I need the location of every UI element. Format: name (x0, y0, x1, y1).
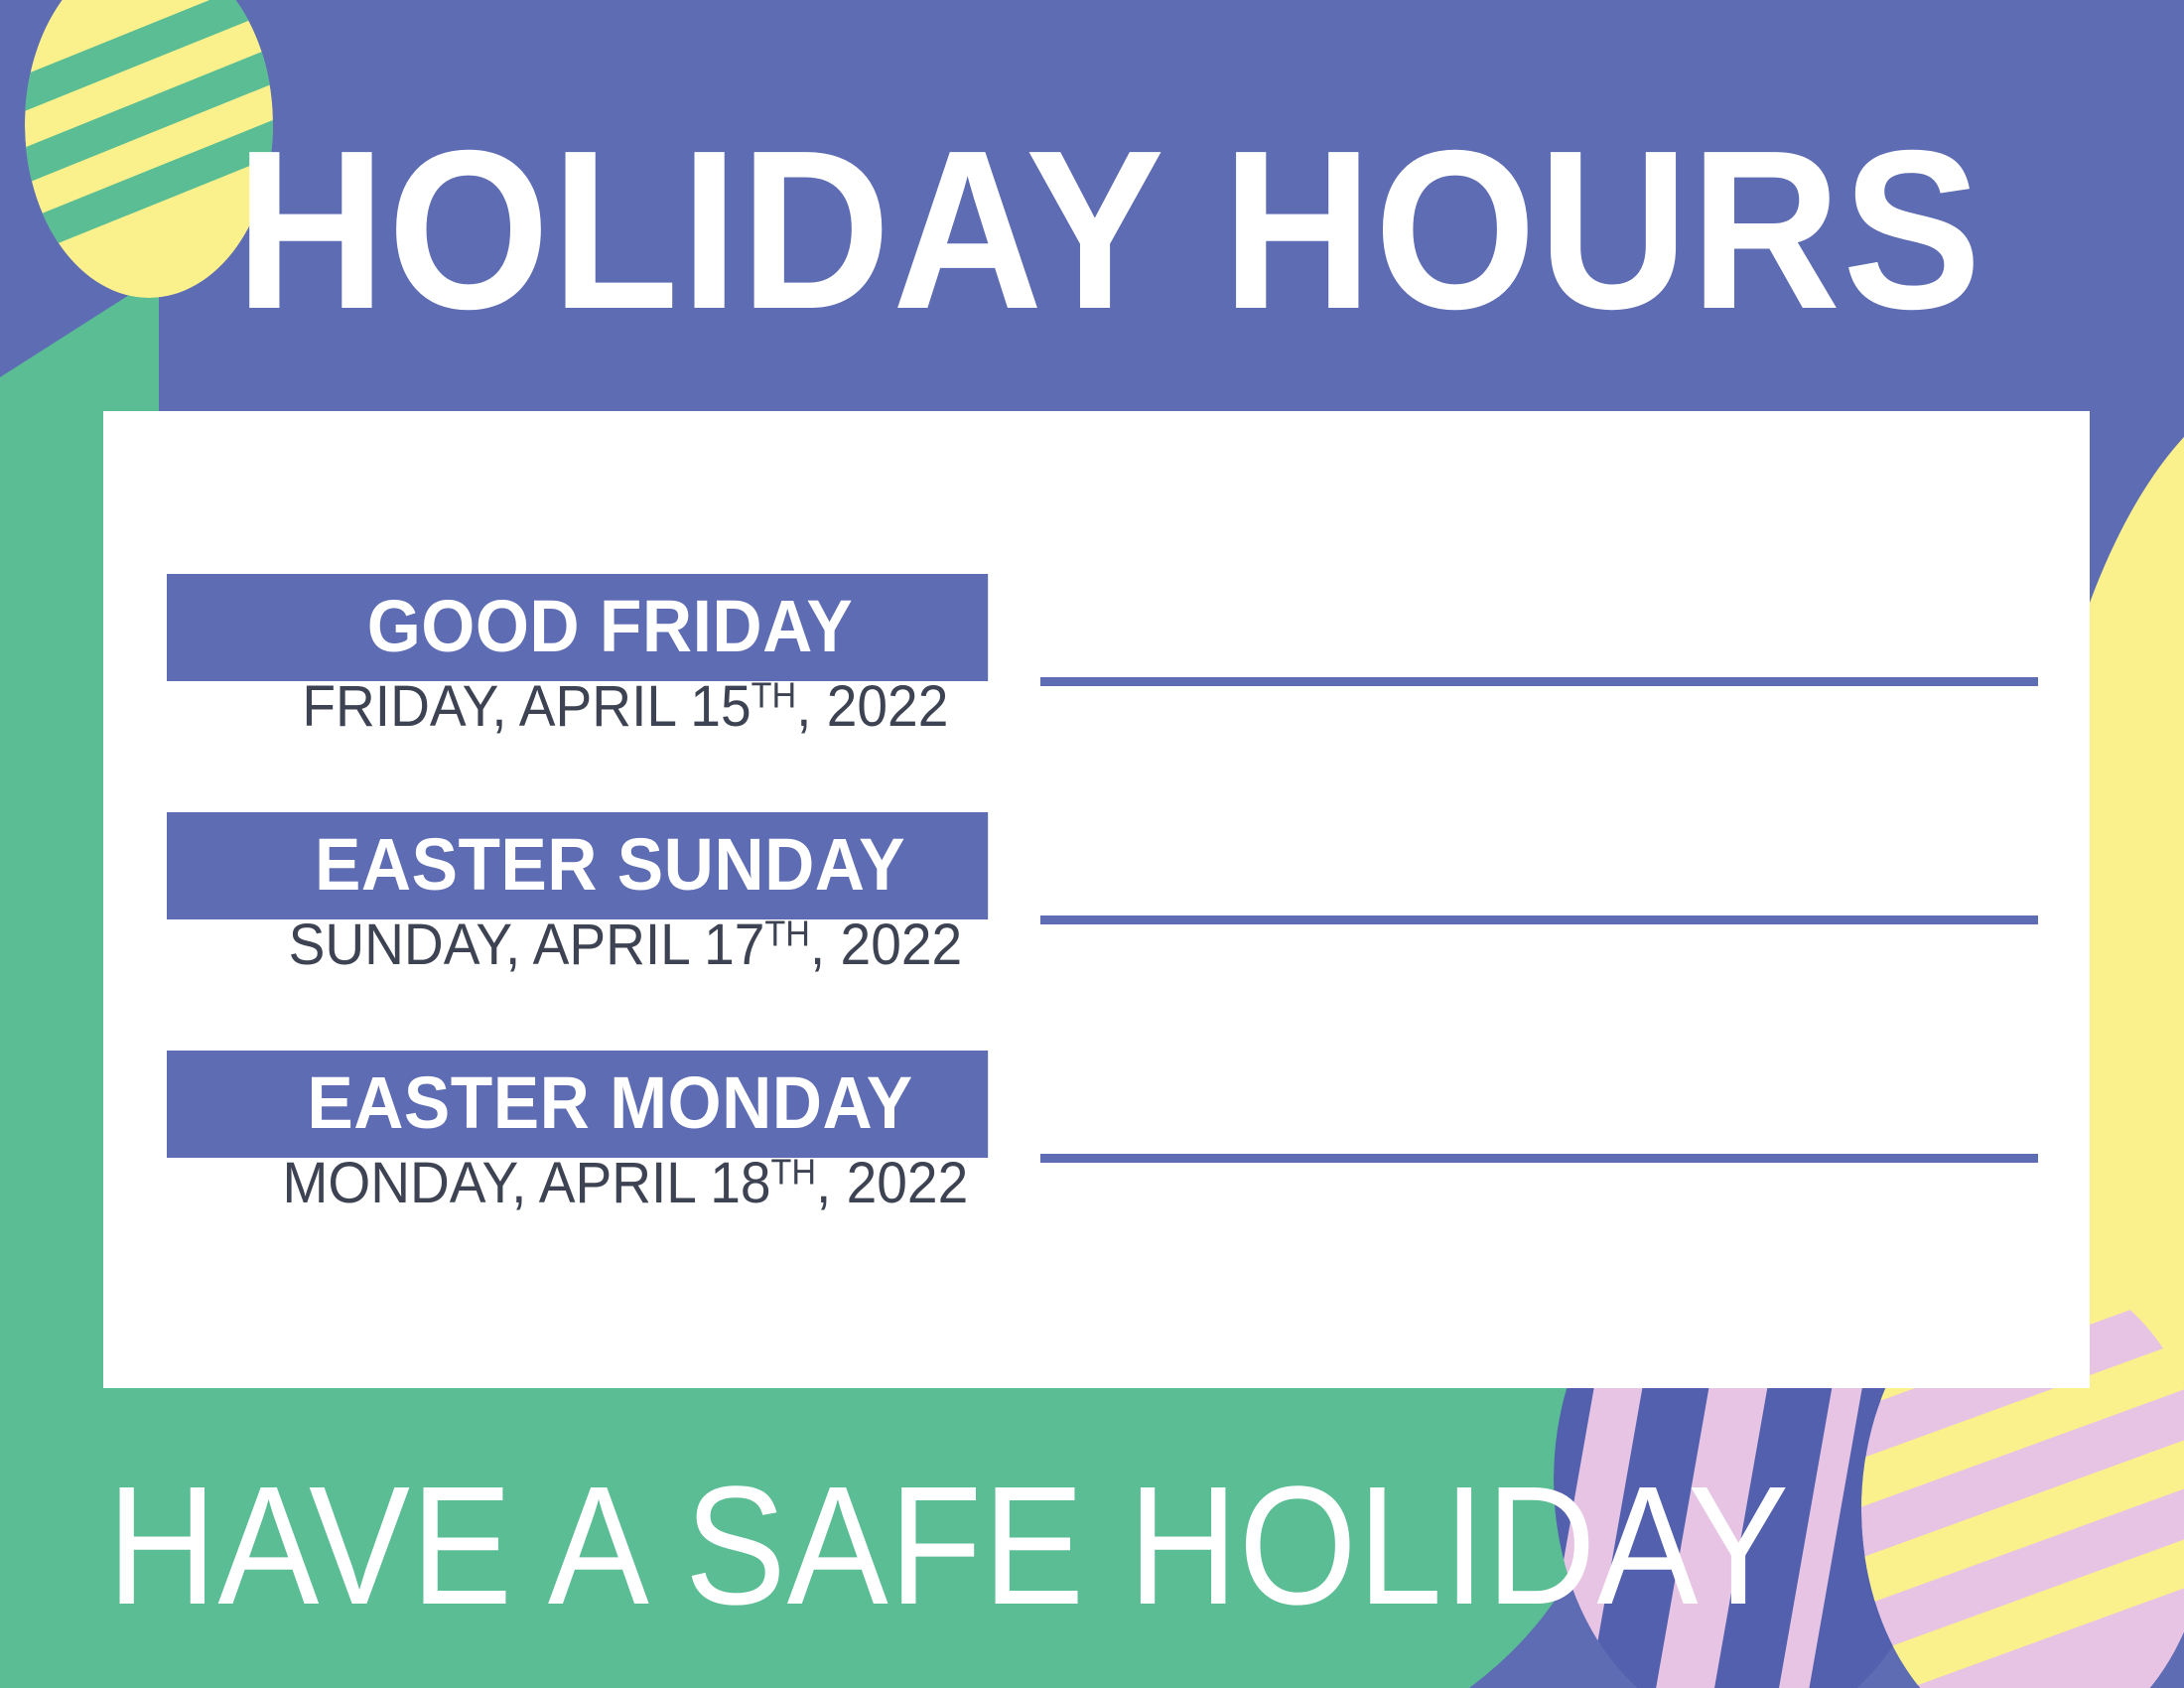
holiday-date: MONDAY, APRIL 18TH, 2022 (189, 1154, 1019, 1214)
poster-canvas: HOLIDAY HOURS GOOD FRIDAY FRIDAY, APRIL … (0, 0, 2184, 1688)
holiday-date-suffix: , 2022 (796, 674, 948, 739)
holiday-date: SUNDAY, APRIL 17TH, 2022 (189, 915, 1019, 976)
holiday-date-ordinal: TH (770, 1151, 816, 1192)
holiday-date-suffix: , 2022 (816, 1151, 968, 1215)
holiday-date-prefix: SUNDAY, APRIL 17 (289, 913, 765, 977)
holiday-date: FRIDAY, APRIL 15TH, 2022 (189, 677, 1019, 738)
hours-write-in-line[interactable] (1040, 1154, 2038, 1163)
holiday-name-badge: GOOD FRIDAY (167, 574, 988, 681)
holiday-date-suffix: , 2022 (810, 913, 962, 977)
page-title: HOLIDAY HOURS (87, 117, 2097, 344)
holiday-date-prefix: FRIDAY, APRIL 15 (302, 674, 751, 739)
holiday-date-ordinal: TH (751, 674, 797, 715)
holiday-hours-card: GOOD FRIDAY FRIDAY, APRIL 15TH, 2022 EAS… (103, 411, 2090, 1388)
holiday-row: EASTER MONDAY MONDAY, APRIL 18TH, 2022 (103, 1051, 2090, 1229)
holiday-date-prefix: MONDAY, APRIL 18 (282, 1151, 770, 1215)
holiday-name-badge: EASTER SUNDAY (167, 812, 988, 919)
holiday-date-ordinal: TH (764, 913, 810, 953)
footer-message: HAVE A SAFE HOLIDAY (107, 1462, 1790, 1630)
hours-write-in-line[interactable] (1040, 915, 2038, 924)
holiday-row: EASTER SUNDAY SUNDAY, APRIL 17TH, 2022 (103, 812, 2090, 991)
holiday-name-badge: EASTER MONDAY (167, 1051, 988, 1158)
hours-write-in-line[interactable] (1040, 677, 2038, 686)
holiday-row: GOOD FRIDAY FRIDAY, APRIL 15TH, 2022 (103, 574, 2090, 753)
